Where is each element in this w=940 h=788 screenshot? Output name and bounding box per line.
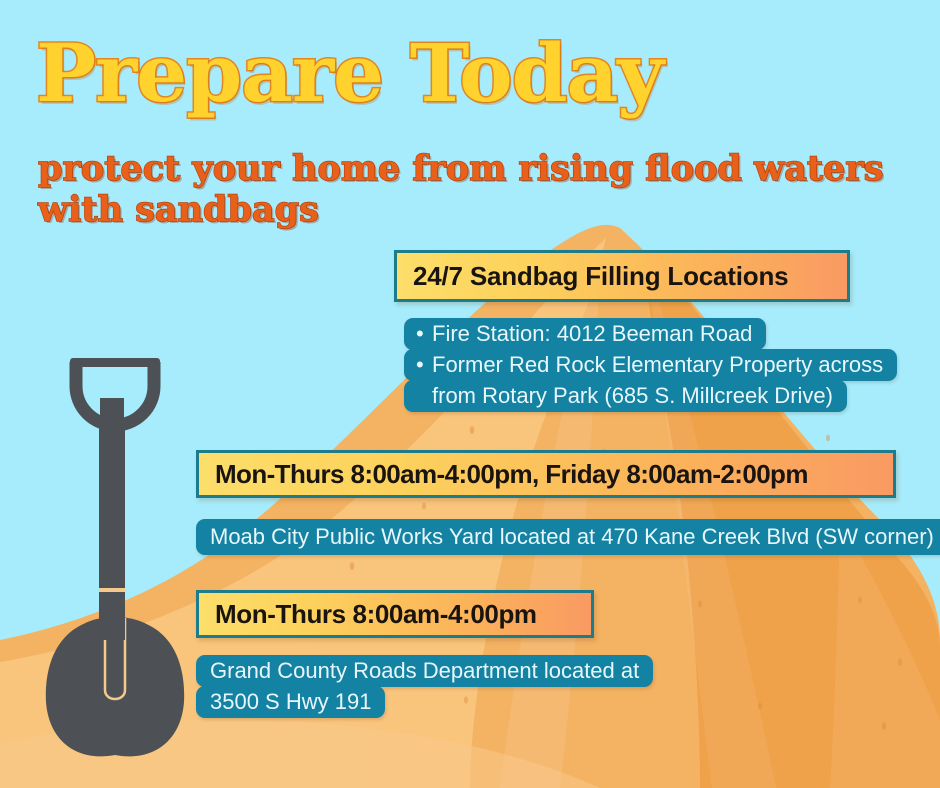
banner-moab-city-hours-label: Mon-Thurs 8:00am-4:00pm, Friday 8:00am-2… [215, 459, 808, 490]
grand-county-address: Grand County Roads Department located at… [196, 655, 653, 717]
list-item-text: Fire Station: 4012 Beeman Road [432, 321, 752, 347]
page-subtitle-line-1: protect your home from rising flood wate… [38, 148, 918, 189]
list-item-continuation: from Rotary Park (685 S. Millcreek Drive… [404, 380, 847, 412]
banner-grand-county-hours: Mon-Thurs 8:00am-4:00pm [196, 590, 594, 638]
list-item-text: Former Red Rock Elementary Property acro… [432, 352, 883, 378]
page-subtitle: protect your home from rising flood wate… [38, 148, 918, 231]
list-item-text: from Rotary Park (685 S. Millcreek Drive… [432, 383, 833, 409]
moab-city-address: Moab City Public Works Yard located at 4… [196, 519, 940, 555]
banner-24-7-locations-label: 24/7 Sandbag Filling Locations [413, 261, 788, 292]
poster-canvas: Prepare Today protect your home from ris… [0, 0, 940, 788]
banner-grand-county-hours-label: Mon-Thurs 8:00am-4:00pm [215, 599, 537, 630]
bullet-dot-icon: • [416, 354, 432, 376]
list-item: • Former Red Rock Elementary Property ac… [404, 349, 897, 381]
address-line: Grand County Roads Department located at [196, 655, 653, 687]
page-title: Prepare Today [36, 34, 916, 112]
bullet-dot-icon: • [416, 323, 432, 345]
address-line: Moab City Public Works Yard located at 4… [196, 519, 940, 555]
banner-24-7-locations: 24/7 Sandbag Filling Locations [394, 250, 850, 302]
locations-bullet-list: • Fire Station: 4012 Beeman Road • Forme… [404, 318, 897, 411]
list-item: • Fire Station: 4012 Beeman Road [404, 318, 766, 350]
page-subtitle-line-2: with sandbags [38, 189, 918, 230]
address-line: 3500 S Hwy 191 [196, 686, 385, 718]
banner-moab-city-hours: Mon-Thurs 8:00am-4:00pm, Friday 8:00am-2… [196, 450, 896, 498]
